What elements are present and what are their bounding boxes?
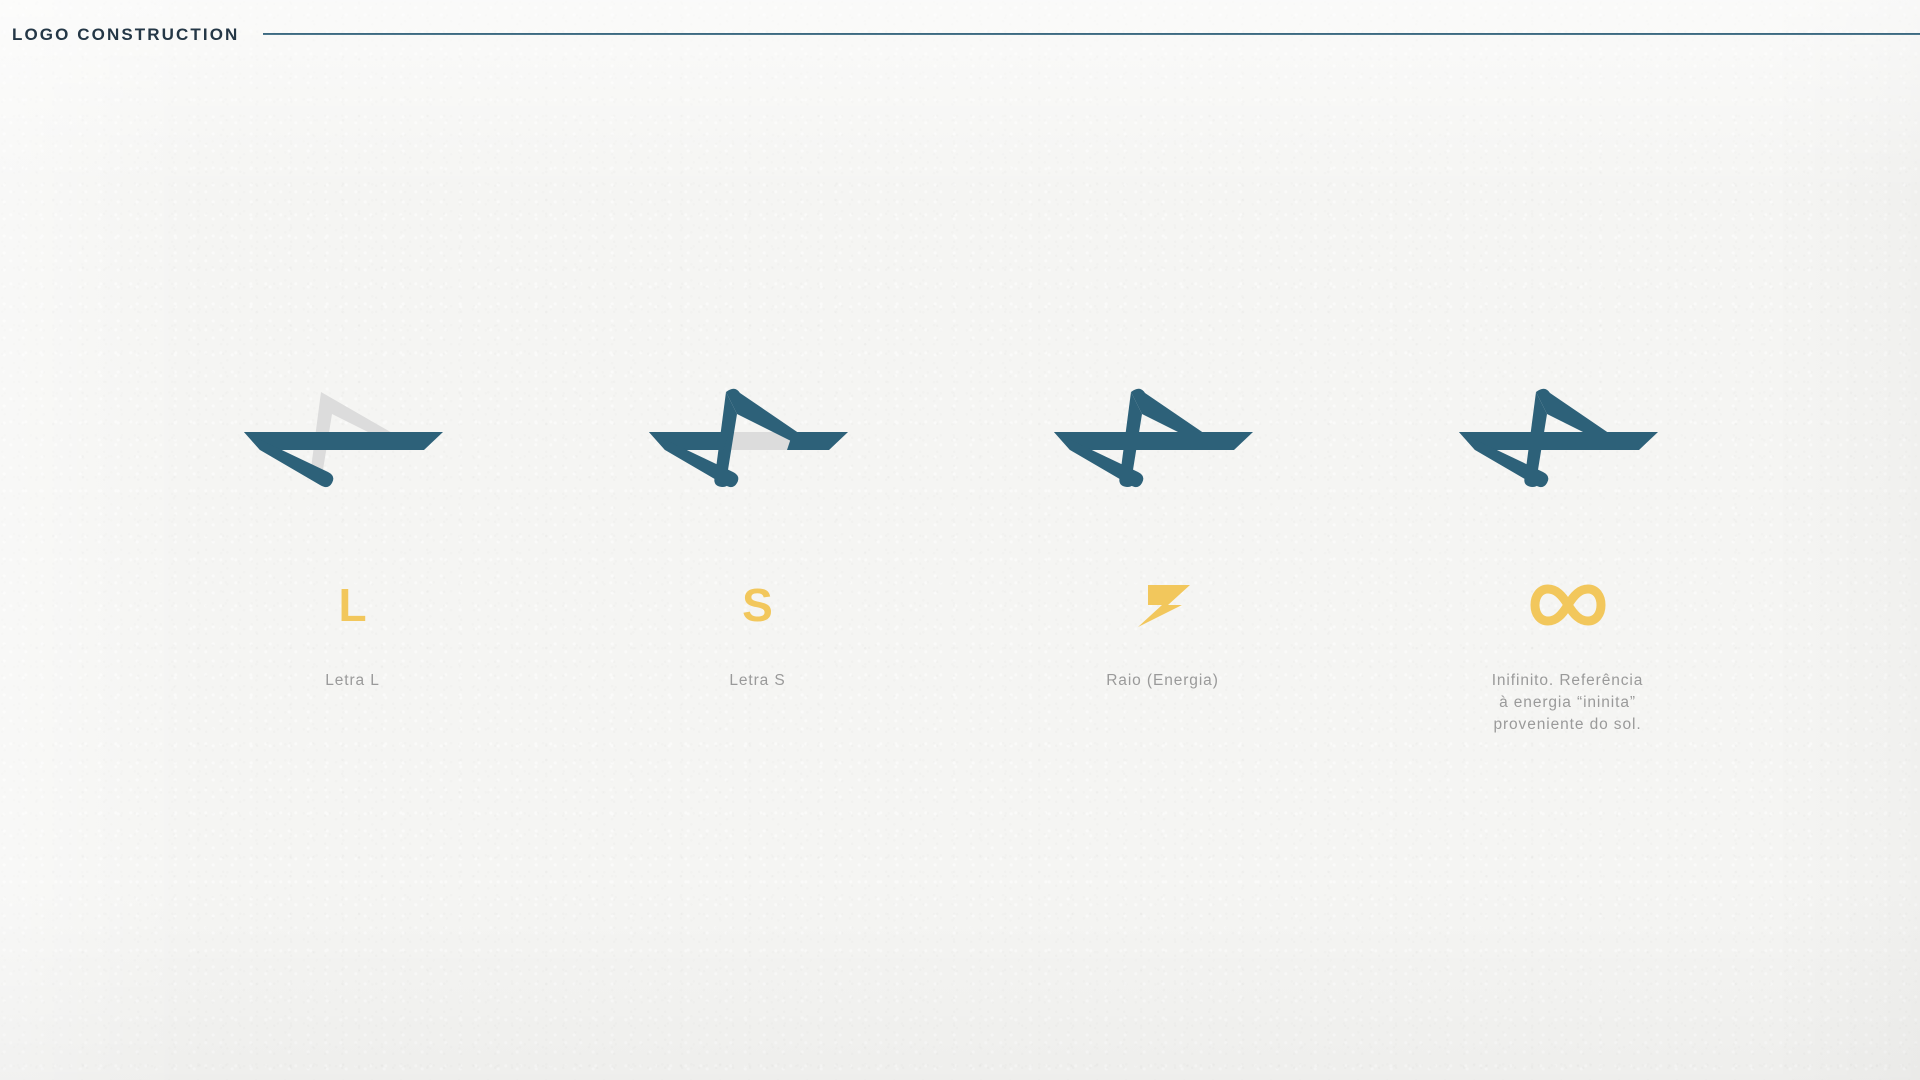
infinity-glyph-wrap <box>1531 562 1605 648</box>
logo-construction-grid: L Letra L <box>150 380 1770 736</box>
slide-header: LOGO CONSTRUCTION <box>0 0 1920 68</box>
construction-column-letter-l: L Letra L <box>150 380 555 692</box>
construction-column-bolt: Raio (Energia) <box>960 380 1365 692</box>
letter-l-glyph-wrap: L <box>338 562 366 648</box>
letter-s-glyph: S <box>742 582 773 628</box>
construction-column-infinity: Inifinito. Referência à energia “ininita… <box>1365 380 1770 736</box>
letter-s-bar-right-wing <box>787 432 848 450</box>
bolt-glyph-wrap <box>1132 562 1194 648</box>
caption-letter-s: Letra S <box>729 670 785 692</box>
logo-mark-infinity <box>1453 380 1683 500</box>
caption-line: Raio (Energia) <box>1106 670 1219 692</box>
caption-bolt: Raio (Energia) <box>1106 670 1219 692</box>
infinity-icon <box>1531 583 1605 627</box>
letter-s-glyph-wrap: S <box>742 562 773 648</box>
lightning-bolt-icon <box>1132 579 1194 631</box>
header-divider-rule <box>263 33 1920 35</box>
construction-column-letter-s: S Letra S <box>555 380 960 692</box>
caption-letter-l: Letra L <box>325 670 380 692</box>
logo-mark-bolt <box>1048 380 1278 500</box>
logo-mark-letter-s <box>643 380 873 500</box>
caption-line: Inifinito. Referência <box>1492 670 1644 692</box>
page-title: LOGO CONSTRUCTION <box>12 26 239 43</box>
caption-line: proveniente do sol. <box>1492 714 1644 736</box>
caption-line: à energia “ininita” <box>1492 692 1644 714</box>
letter-l-glyph: L <box>338 582 366 628</box>
caption-line: Letra L <box>325 670 380 692</box>
caption-line: Letra S <box>729 670 785 692</box>
caption-infinity: Inifinito. Referência à energia “ininita… <box>1492 670 1644 736</box>
logo-mark-letter-l <box>238 380 468 500</box>
slide-canvas: LOGO CONSTRUCTION L Letra L <box>0 0 1920 1080</box>
